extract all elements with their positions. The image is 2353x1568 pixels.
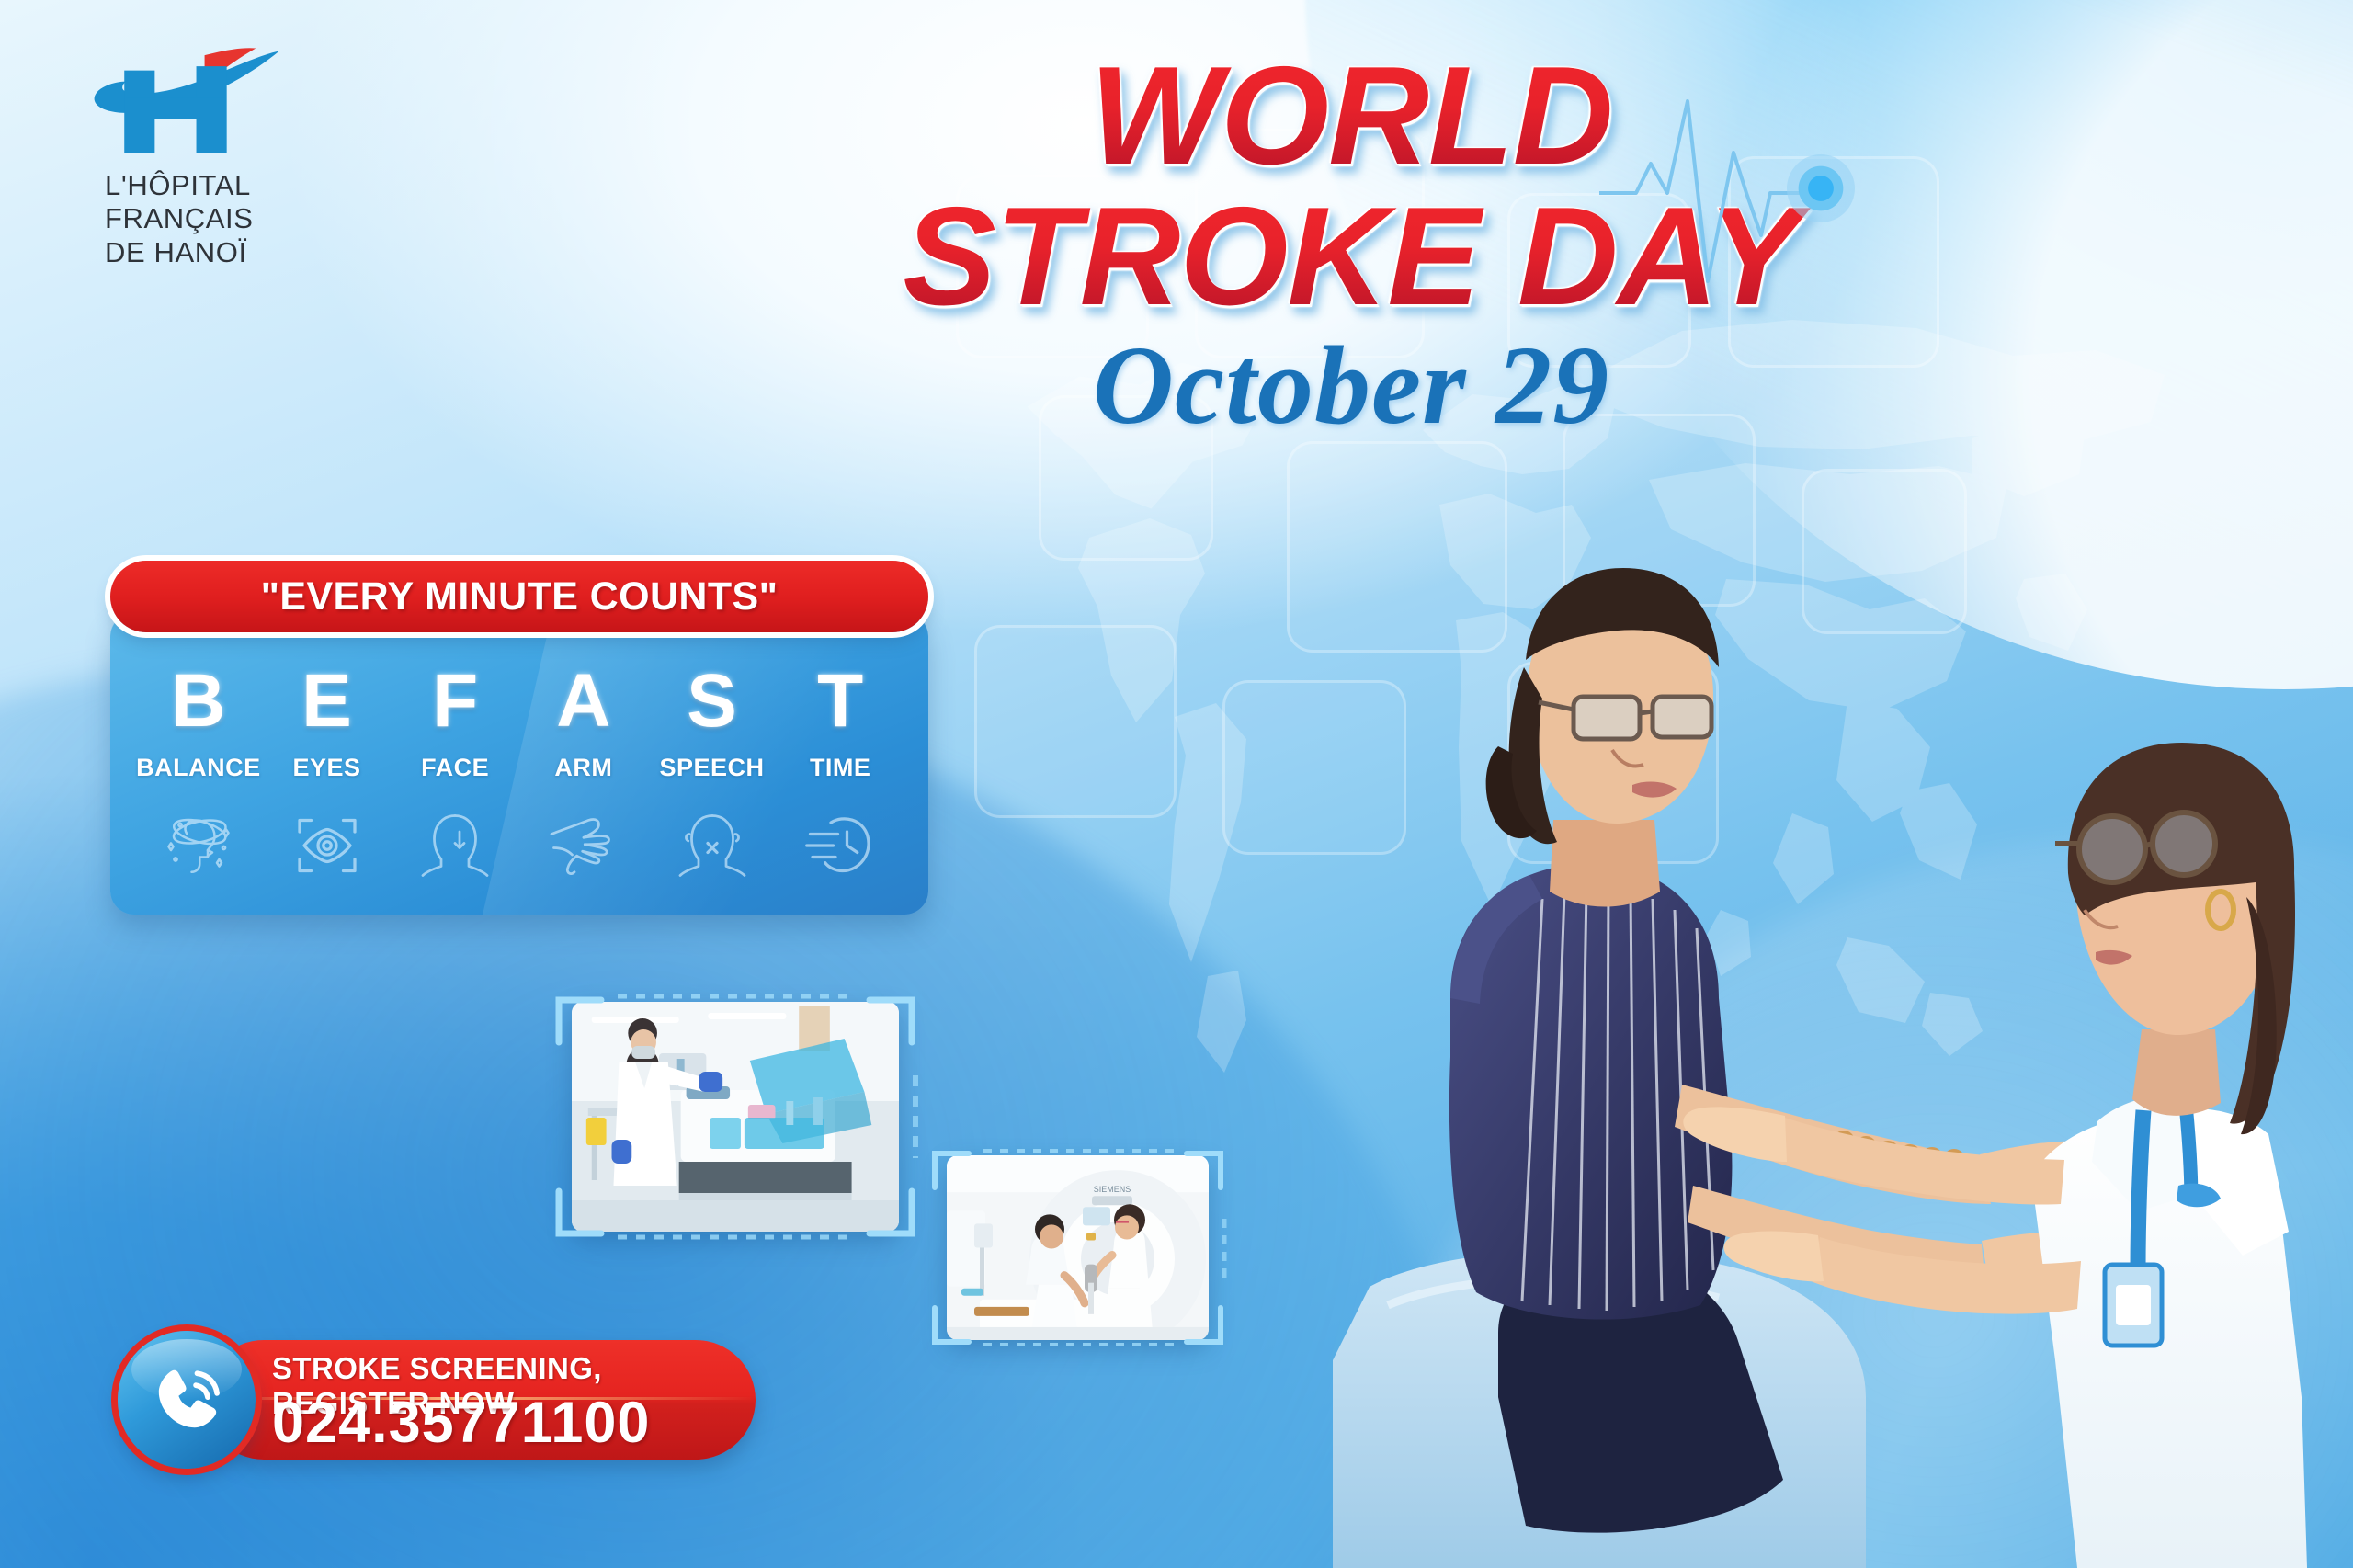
befast-card: "EVERY MINUTE COUNTS" B BALANCE	[110, 561, 928, 915]
befast-item-time: T TIME	[776, 664, 904, 885]
befast-panel: B BALANCE E EY	[110, 612, 928, 915]
befast-item-arm: A ARM	[519, 664, 648, 885]
lab-photo-image	[572, 1002, 899, 1232]
befast-label: SPEECH	[648, 754, 777, 782]
hospital-name-line-3: DE HANOÏ	[105, 236, 384, 269]
befast-item-speech: S SPEECH	[648, 664, 777, 885]
befast-letter: A	[519, 664, 648, 739]
cta-phone-number[interactable]: 024.35771100	[272, 1390, 650, 1456]
hero-people-illustration	[1222, 478, 2353, 1568]
hospital-name-line-1: L'HÔPITAL	[105, 169, 384, 202]
befast-letters-row: B BALANCE E EY	[134, 664, 904, 885]
hospital-logo: L'HÔPITAL FRANÇAIS DE HANOÏ	[81, 39, 384, 269]
hfh-h-swoosh-logo-icon	[81, 39, 292, 156]
befast-label: FACE	[391, 754, 519, 782]
mri-scan-photo: SIEMENS	[928, 1140, 1227, 1356]
slogan-banner: "EVERY MINUTE COUNTS"	[110, 561, 928, 632]
lab-technician-photo	[551, 983, 919, 1250]
face-droop-icon	[391, 806, 519, 885]
befast-label: ARM	[519, 754, 648, 782]
befast-label: BALANCE	[134, 754, 263, 782]
befast-label: EYES	[263, 754, 392, 782]
svg-text:SIEMENS: SIEMENS	[1094, 1185, 1131, 1194]
mri-photo-image: SIEMENS	[947, 1155, 1209, 1340]
event-date: October 29	[717, 322, 1985, 450]
befast-letter: B	[134, 664, 263, 739]
speech-difficulty-icon	[648, 806, 777, 885]
world-stroke-day-banner: L'HÔPITAL FRANÇAIS DE HANOÏ WORLD STROKE…	[0, 0, 2353, 1568]
hospital-name: L'HÔPITAL FRANÇAIS DE HANOÏ	[81, 169, 384, 269]
befast-letter: F	[391, 664, 519, 739]
eye-scan-icon	[263, 806, 392, 885]
befast-letter: S	[648, 664, 777, 739]
cta-register[interactable]: STROKE SCREENING, REGISTER NOW 024.35771…	[118, 1331, 761, 1469]
hospital-name-line-2: FRANÇAIS	[105, 202, 384, 235]
phone-call-icon[interactable]	[118, 1331, 256, 1469]
befast-item-face: F FACE	[391, 664, 519, 885]
befast-letter: T	[776, 664, 904, 739]
pulse-dot-icon	[1787, 154, 1855, 222]
befast-letter: E	[263, 664, 392, 739]
dizzy-head-icon	[134, 806, 263, 885]
slogan-text: "EVERY MINUTE COUNTS"	[261, 574, 779, 619]
arm-weakness-icon	[519, 806, 648, 885]
clock-time-icon	[776, 806, 904, 885]
befast-item-eyes: E EYES	[263, 664, 392, 885]
befast-label: TIME	[776, 754, 904, 782]
befast-item-balance: B BALANCE	[134, 664, 263, 885]
